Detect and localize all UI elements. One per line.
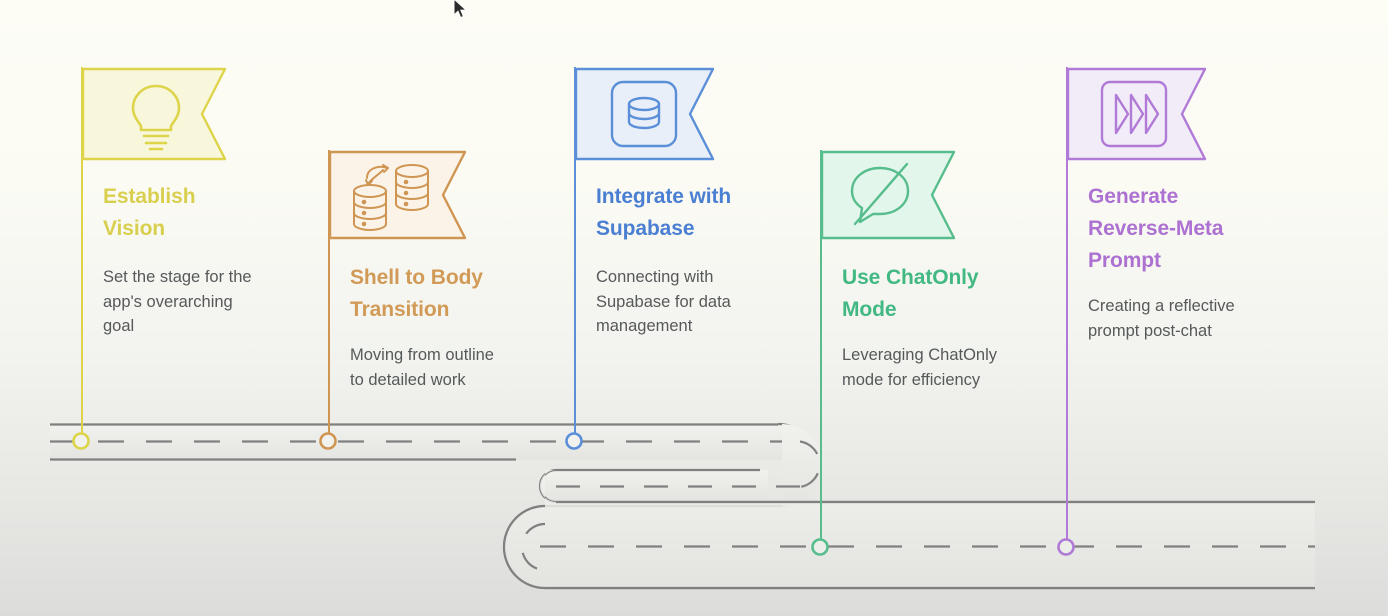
milestone-description: Set the stage for the app's overarching … [103,265,303,339]
milestone-title: Shell to Body Transition [350,262,560,326]
milestone-flag [575,67,716,161]
milestone-list: Establish Vision Set the stage for the a… [0,0,1388,616]
milestone-flag [82,67,228,161]
milestone-description: Creating a reflective prompt post-chat [1088,294,1293,343]
roadmap-canvas: Establish Vision Set the stage for the a… [0,0,1388,616]
milestone-flag [1067,67,1208,161]
milestone-description: Connecting with Supabase for data manage… [596,265,796,339]
milestone-title: Integrate with Supabase [596,181,806,245]
milestone-description: Leveraging ChatOnly mode for efficiency [842,343,1052,392]
milestone-flag [821,150,957,240]
milestone-description: Moving from outline to detailed work [350,343,550,392]
milestone-title: Establish Vision [103,181,303,245]
milestone-flag [329,150,468,240]
milestone-title: Generate Reverse-Meta Prompt [1088,181,1303,277]
milestone-title: Use ChatOnly Mode [842,262,1057,326]
